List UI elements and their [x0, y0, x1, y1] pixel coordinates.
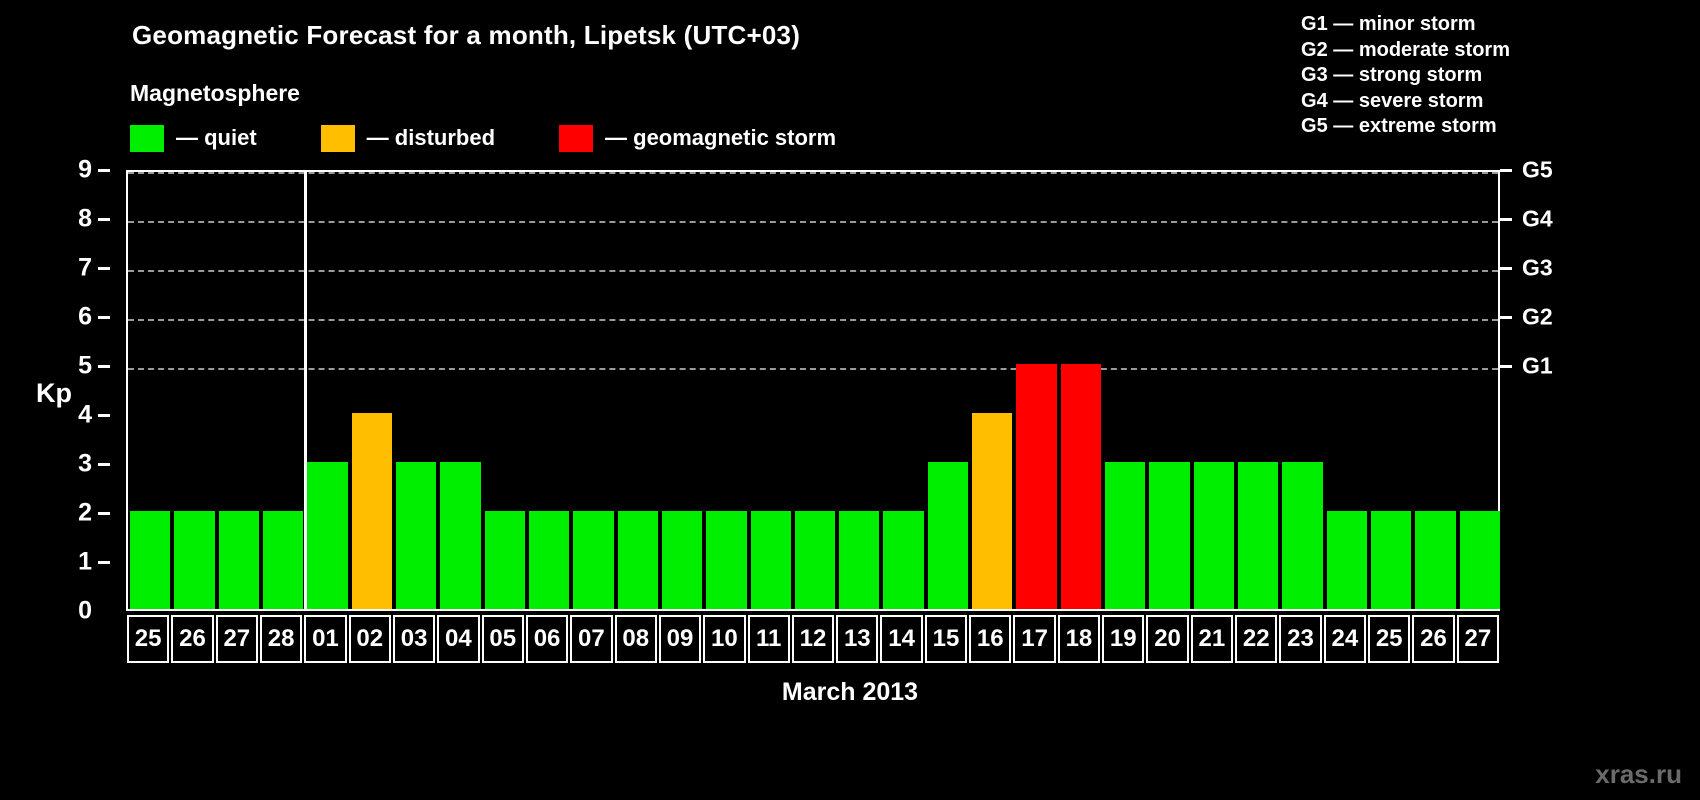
day-label-10[interactable]: 07	[570, 615, 612, 663]
day-label-13[interactable]: 10	[703, 615, 745, 663]
day-label-28[interactable]: 25	[1368, 615, 1410, 663]
bar-day-10[interactable]	[706, 511, 746, 609]
bar-day-06[interactable]	[529, 511, 569, 609]
day-label-5[interactable]: 02	[349, 615, 391, 663]
day-label-19[interactable]: 16	[969, 615, 1011, 663]
bar-day-25[interactable]	[1371, 511, 1411, 609]
day-label-9[interactable]: 06	[526, 615, 568, 663]
day-label-12[interactable]: 09	[659, 615, 701, 663]
day-label-2[interactable]: 27	[216, 615, 258, 663]
bar-day-24[interactable]	[1327, 511, 1367, 609]
day-label-6[interactable]: 03	[393, 615, 435, 663]
day-label-row: 2526272801020304050607080910111213141516…	[126, 615, 1500, 663]
y-tick-label-4: 4	[78, 401, 92, 430]
y-tick-label-8: 8	[78, 205, 92, 234]
g-tick-label-G3: G3	[1522, 255, 1553, 282]
day-label-26[interactable]: 23	[1279, 615, 1321, 663]
g-tick-label-G5: G5	[1522, 157, 1553, 184]
plot-area	[126, 170, 1500, 611]
y-tick-label-2: 2	[78, 499, 92, 528]
y-tick-label-6: 6	[78, 303, 92, 332]
y-tick-label-7: 7	[78, 254, 92, 283]
day-label-4[interactable]: 01	[304, 615, 346, 663]
bar-day-07[interactable]	[573, 511, 613, 609]
page-title: Geomagnetic Forecast for a month, Lipets…	[132, 20, 800, 51]
bar-day-05[interactable]	[485, 511, 525, 609]
bar-day-21[interactable]	[1194, 462, 1234, 609]
day-label-18[interactable]: 15	[925, 615, 967, 663]
y-tick-label-0: 0	[78, 597, 92, 626]
bar-day-09[interactable]	[662, 511, 702, 609]
g-scale-row-g2: G2 — moderate storm	[1301, 38, 1510, 64]
bar-day-20[interactable]	[1149, 462, 1189, 609]
g-scale-row-g3: G3 — strong storm	[1301, 63, 1510, 89]
bar-day-03[interactable]	[396, 462, 436, 609]
watermark: xras.ru	[1595, 759, 1682, 790]
day-label-17[interactable]: 14	[880, 615, 922, 663]
y-tick-label-9: 9	[78, 156, 92, 185]
legend-swatch-quiet-icon	[130, 125, 164, 152]
day-label-27[interactable]: 24	[1324, 615, 1366, 663]
y-tick-mark-9	[98, 169, 110, 172]
bar-day-17[interactable]	[1016, 364, 1056, 609]
day-label-25[interactable]: 22	[1235, 615, 1277, 663]
g-tick-mark-G2	[1500, 316, 1512, 319]
bar-day-19[interactable]	[1105, 462, 1145, 609]
day-label-3[interactable]: 28	[260, 615, 302, 663]
g-scale-legend: G1 — minor storm G2 — moderate storm G3 …	[1301, 12, 1510, 140]
bar-day-16[interactable]	[972, 413, 1012, 609]
day-label-7[interactable]: 04	[437, 615, 479, 663]
y-tick-mark-1	[98, 561, 110, 564]
y-tick-mark-4	[98, 414, 110, 417]
y-tick-mark-7	[98, 267, 110, 270]
bar-day-08[interactable]	[618, 511, 658, 609]
y-tick-mark-2	[98, 512, 110, 515]
day-label-22[interactable]: 19	[1102, 615, 1144, 663]
g-scale-row-g5: G5 — extreme storm	[1301, 114, 1510, 140]
bar-day-22[interactable]	[1238, 462, 1278, 609]
bar-day-27[interactable]	[219, 511, 259, 609]
g-tick-mark-G1	[1500, 365, 1512, 368]
day-label-14[interactable]: 11	[748, 615, 790, 663]
bar-day-26[interactable]	[1415, 511, 1455, 609]
day-label-15[interactable]: 12	[792, 615, 834, 663]
day-label-11[interactable]: 08	[615, 615, 657, 663]
legend-label-quiet: — quiet	[176, 125, 257, 151]
bar-day-13[interactable]	[839, 511, 879, 609]
g-scale-axis: G1G2G3G4G5	[1500, 170, 1620, 611]
day-label-23[interactable]: 20	[1146, 615, 1188, 663]
day-label-16[interactable]: 13	[836, 615, 878, 663]
g-tick-mark-G4	[1500, 218, 1512, 221]
g-tick-label-G1: G1	[1522, 353, 1553, 380]
bar-day-01[interactable]	[307, 462, 347, 609]
color-legend: — quiet — disturbed — geomagnetic storm	[130, 123, 836, 153]
legend-item-storm: — geomagnetic storm	[559, 123, 836, 153]
y-tick-mark-3	[98, 463, 110, 466]
day-label-29[interactable]: 26	[1412, 615, 1454, 663]
legend-label-storm: — geomagnetic storm	[605, 125, 836, 151]
g-tick-mark-G3	[1500, 267, 1512, 270]
day-label-24[interactable]: 21	[1191, 615, 1233, 663]
plot-inner	[128, 172, 1498, 609]
y-axis-title: Kp	[36, 378, 72, 409]
bar-day-26[interactable]	[174, 511, 214, 609]
bar-day-04[interactable]	[440, 462, 480, 609]
x-axis-title: March 2013	[0, 678, 1700, 707]
bar-day-02[interactable]	[352, 413, 392, 609]
legend-item-quiet: — quiet	[130, 123, 257, 153]
day-label-0[interactable]: 25	[127, 615, 169, 663]
legend-swatch-disturbed-icon	[321, 125, 355, 152]
day-label-8[interactable]: 05	[482, 615, 524, 663]
bar-day-28[interactable]	[263, 511, 303, 609]
legend-label-disturbed: — disturbed	[367, 125, 495, 151]
g-scale-row-g4: G4 — severe storm	[1301, 89, 1510, 115]
bar-day-12[interactable]	[795, 511, 835, 609]
y-tick-mark-5	[98, 365, 110, 368]
y-tick-label-5: 5	[78, 352, 92, 381]
y-tick-label-1: 1	[78, 548, 92, 577]
day-label-30[interactable]: 27	[1457, 615, 1499, 663]
bar-day-15[interactable]	[928, 462, 968, 609]
bar-day-25[interactable]	[130, 511, 170, 609]
bar-day-18[interactable]	[1061, 364, 1101, 609]
g-tick-label-G2: G2	[1522, 304, 1553, 331]
day-label-21[interactable]: 18	[1058, 615, 1100, 663]
bars	[128, 172, 1498, 609]
magnetosphere-label: Magnetosphere	[130, 80, 300, 107]
y-tick-mark-8	[98, 218, 110, 221]
bar-day-23[interactable]	[1282, 462, 1322, 609]
legend-swatch-storm-icon	[559, 125, 593, 152]
g-scale-row-g1: G1 — minor storm	[1301, 12, 1510, 38]
bar-day-27[interactable]	[1460, 511, 1500, 609]
g-tick-mark-G5	[1500, 169, 1512, 172]
legend-item-disturbed: — disturbed	[321, 123, 495, 153]
day-label-1[interactable]: 26	[171, 615, 213, 663]
y-tick-mark-6	[98, 316, 110, 319]
day-label-20[interactable]: 17	[1013, 615, 1055, 663]
g-tick-label-G4: G4	[1522, 206, 1553, 233]
bar-day-11[interactable]	[751, 511, 791, 609]
bar-day-14[interactable]	[883, 511, 923, 609]
y-tick-label-3: 3	[78, 450, 92, 479]
